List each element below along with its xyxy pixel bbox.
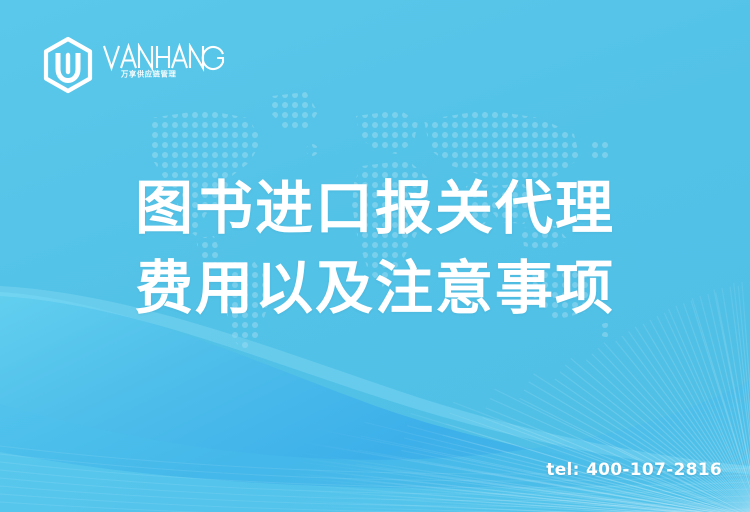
brand-logo[interactable]: 万享供应链管理 — [40, 36, 226, 94]
vanhang-hexagon-u-logo-icon — [40, 36, 96, 94]
contact-phone[interactable]: tel: 400-107-2816 — [546, 460, 722, 480]
promo-banner: 万享供应链管理 图书进口报关代理 费用以及注意事项 tel: 400-107-2… — [0, 0, 750, 512]
page-title: 图书进口报关代理 费用以及注意事项 — [0, 168, 750, 328]
headline-line-2: 费用以及注意事项 — [0, 248, 750, 328]
headline-line-1: 图书进口报关代理 — [0, 168, 750, 248]
brand-chinese-subtitle: 万享供应链管理 — [121, 69, 176, 79]
brand-wordmark: 万享供应链管理 — [102, 43, 226, 87]
